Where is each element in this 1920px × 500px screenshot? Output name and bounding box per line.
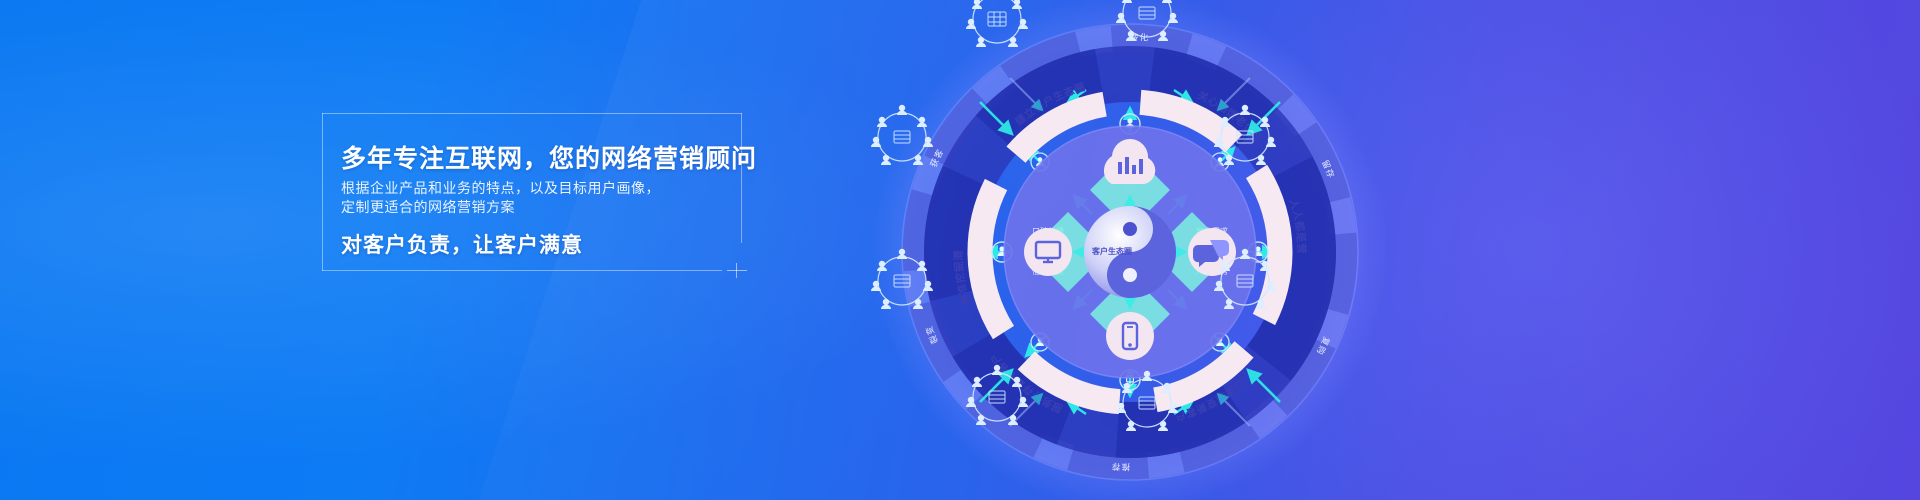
user-group-icon bbox=[960, 360, 1034, 434]
marketing-banner: 多年专注互联网，您的网络营销顾问 根据企业产品和业务的特点，以及目标用户画像， … bbox=[0, 0, 1920, 500]
phone-icon bbox=[1106, 312, 1154, 360]
frame-border-left bbox=[322, 113, 323, 271]
page-title: 多年专注互联网，您的网络营销顾问 bbox=[341, 139, 757, 175]
frame-border-top bbox=[322, 113, 742, 114]
subtitle-group: 根据企业产品和业务的特点，以及目标用户画像， 定制更适合的网络营销方案 bbox=[341, 179, 660, 217]
subtitle-line-2: 定制更适合的网络营销方案 bbox=[341, 198, 660, 217]
user-group-icon bbox=[1110, 366, 1184, 440]
user-group-icon bbox=[865, 244, 939, 318]
core-dot-lower bbox=[1123, 268, 1137, 282]
tagline: 对客户负责，让客户满意 bbox=[341, 229, 583, 259]
marketing-ecosystem-diagram: 获客 转化 留存 复购 推荐 裂变 bbox=[860, 0, 1400, 500]
frame-border-bottom bbox=[322, 270, 722, 271]
frame-corner-tick-horizontal bbox=[727, 270, 747, 271]
user-group-icon bbox=[1208, 244, 1282, 318]
hero-text-block: 多年专注互联网，您的网络营销顾问 根据企业产品和业务的特点，以及目标用户画像， … bbox=[322, 113, 742, 271]
user-group-icon bbox=[1208, 100, 1282, 174]
subtitle-line-1: 根据企业产品和业务的特点，以及目标用户画像， bbox=[341, 179, 660, 198]
core-label: 客户生态圈 bbox=[1091, 246, 1132, 256]
user-group-icon bbox=[865, 100, 939, 174]
frame-border-right bbox=[741, 113, 742, 243]
core-dot-upper bbox=[1123, 222, 1137, 236]
user-group-icon bbox=[960, 0, 1034, 56]
user-group-icon bbox=[1110, 0, 1184, 50]
monitor-icon bbox=[1024, 228, 1072, 276]
